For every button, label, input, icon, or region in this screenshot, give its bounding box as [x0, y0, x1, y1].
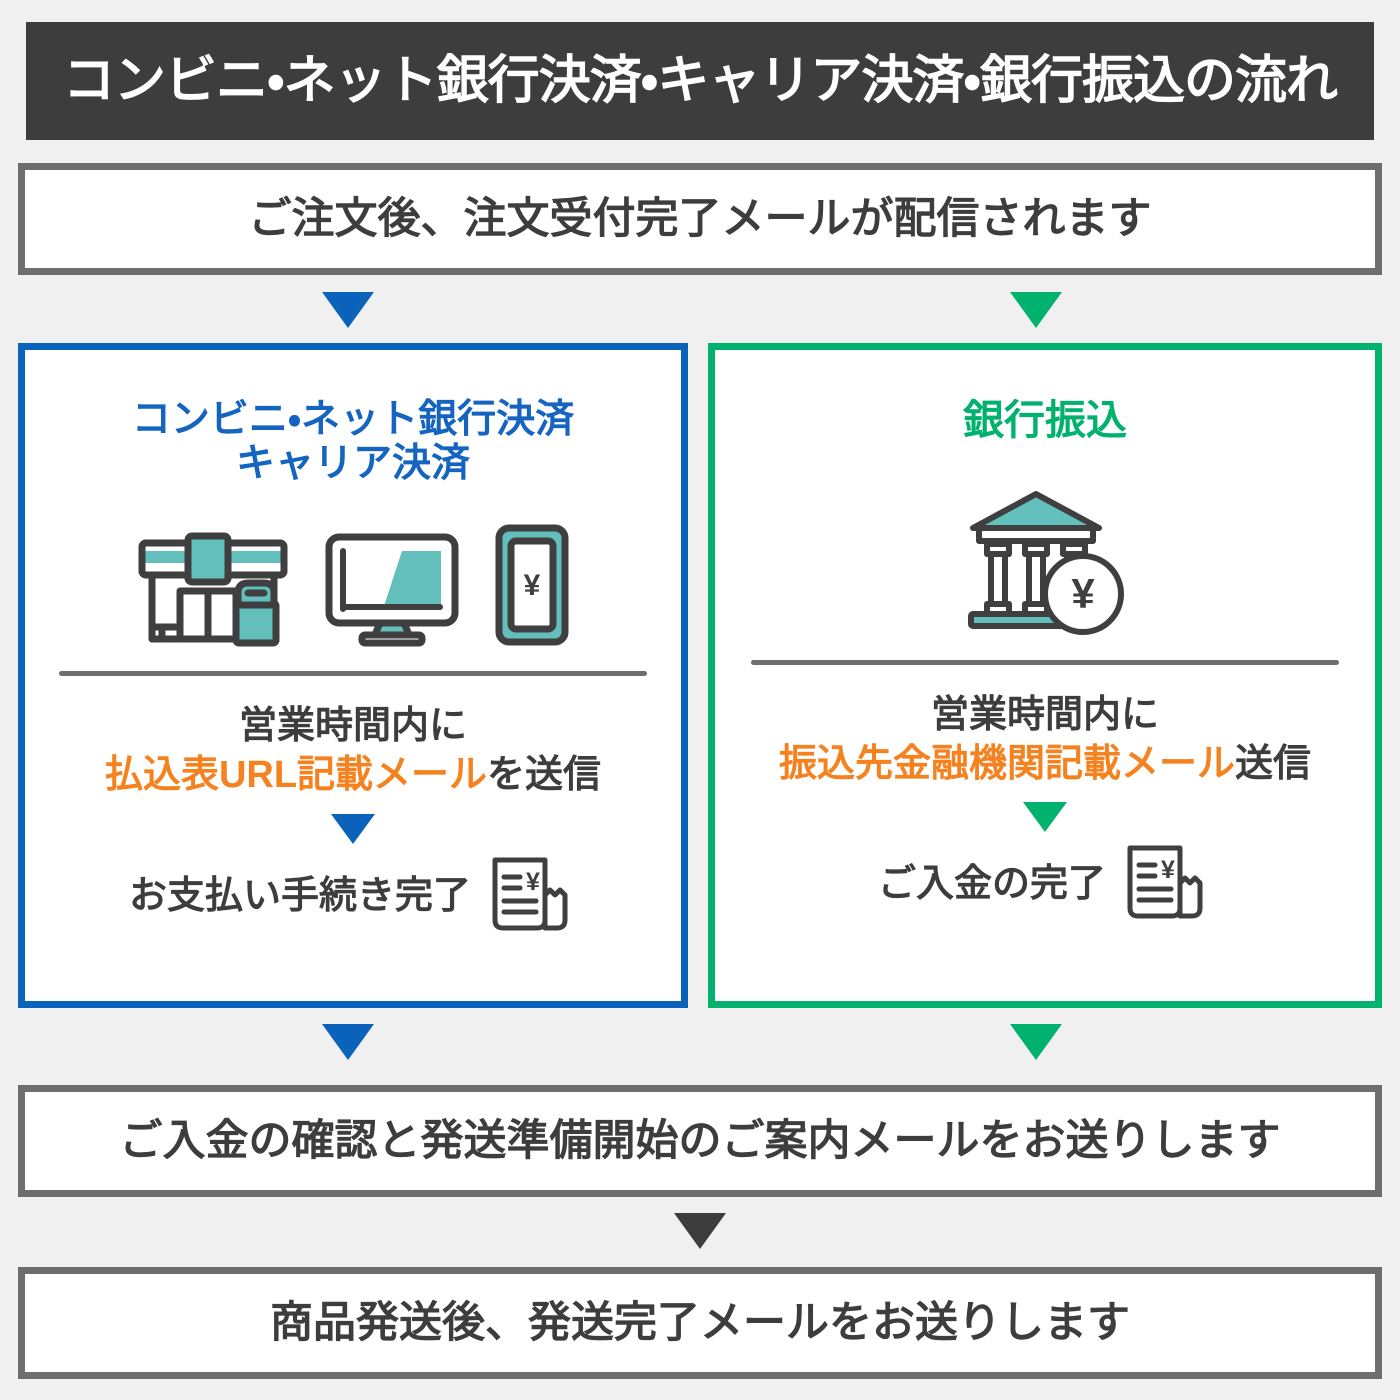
diagram-header: コンビニ・ネット銀行決済・キャリア決済・銀行振込の流れ: [26, 22, 1374, 140]
bank-divider: [751, 660, 1339, 665]
bank-completion-row: ご入金の完了 ¥: [715, 838, 1375, 930]
convenience-message-line1: 営業時間内に: [25, 702, 681, 751]
bank-message-line1: 営業時間内に: [715, 691, 1375, 740]
bank-arrow-wrap: [715, 802, 1375, 832]
convenience-completion-row: お支払い手続き完了 ¥: [25, 850, 681, 942]
desktop-monitor-icon: [324, 531, 460, 647]
bank-message: 営業時間内に 振込先金融機関記載メール送信: [715, 691, 1375, 788]
smartphone-yen-icon: ¥: [494, 523, 570, 647]
step-payment-confirm-box: ご入金の確認と発送準備開始のご案内メールをお送りします: [18, 1085, 1382, 1197]
convenience-message-line2: 払込表URL記載メールを送信: [25, 751, 681, 800]
panel-bank-title-line1: 銀行振込: [963, 397, 1127, 443]
down-arrow-blue-mid-icon: [322, 1024, 374, 1060]
down-arrow-blue-inline-icon: [331, 814, 375, 844]
svg-text:¥: ¥: [1071, 570, 1095, 617]
convenience-arrow-wrap: [25, 814, 681, 844]
down-arrow-blue-top-icon: [322, 292, 374, 328]
bank-message-highlight: 振込先金融機関記載メール: [779, 743, 1235, 785]
convenience-store-icon: [136, 531, 290, 647]
svg-text:¥: ¥: [524, 569, 541, 602]
svg-text:¥: ¥: [526, 868, 540, 896]
invoice-yen-icon: ¥: [485, 850, 577, 942]
step-payment-confirm-text: ご入金の確認と発送準備開始のご案内メールをお送りします: [120, 1120, 1281, 1163]
panel-convenience-payment: コンビニ・ネット銀行決済 キャリア決済: [18, 343, 688, 1008]
panel-bank-title: 銀行振込: [715, 398, 1375, 444]
panel-convenience-title-line2: キャリア決済: [35, 442, 671, 486]
bank-building-yen-icon: ¥: [957, 486, 1133, 636]
bank-message-line2: 振込先金融機関記載メール送信: [715, 740, 1375, 789]
convenience-divider: [59, 671, 647, 676]
step-order-email-box: ご注文後、注文受付完了メールが配信されます: [18, 163, 1382, 275]
bank-icon-row: ¥: [715, 496, 1375, 636]
payment-flow-diagram: コンビニ・ネット銀行決済・キャリア決済・銀行振込の流れ ご注文後、注文受付完了メ…: [0, 0, 1400, 1400]
convenience-message-suffix: を送信: [487, 754, 601, 796]
step-shipped-email-box: 商品発送後、発送完了メールをお送りします: [18, 1267, 1382, 1379]
bank-completion-label: ご入金の完了: [878, 865, 1106, 903]
panel-bank-transfer: 銀行振込: [708, 343, 1382, 1008]
panel-convenience-title: コンビニ・ネット銀行決済 キャリア決済: [25, 398, 681, 485]
step-shipped-email-text: 商品発送後、発送完了メールをお送りします: [270, 1302, 1130, 1345]
convenience-icon-row: ¥: [25, 507, 681, 647]
invoice-yen-icon: ¥: [1120, 838, 1212, 930]
step-order-email-text: ご注文後、注文受付完了メールが配信されます: [249, 198, 1152, 241]
page-title: コンビニ・ネット銀行決済・キャリア決済・銀行振込の流れ: [63, 55, 1337, 107]
svg-text:¥: ¥: [1161, 856, 1175, 884]
convenience-message-highlight: 払込表URL記載メール: [105, 754, 487, 796]
bank-message-suffix: 送信: [1235, 743, 1311, 785]
down-arrow-green-mid-icon: [1010, 1024, 1062, 1060]
panel-convenience-title-line1: コンビニ・ネット銀行決済: [132, 398, 574, 441]
convenience-message: 営業時間内に 払込表URL記載メールを送信: [25, 702, 681, 799]
convenience-completion-label: お支払い手続き完了: [129, 877, 471, 915]
down-arrow-green-top-icon: [1010, 292, 1062, 328]
down-arrow-dark-bottom-icon: [674, 1213, 726, 1249]
down-arrow-green-inline-icon: [1023, 802, 1067, 832]
